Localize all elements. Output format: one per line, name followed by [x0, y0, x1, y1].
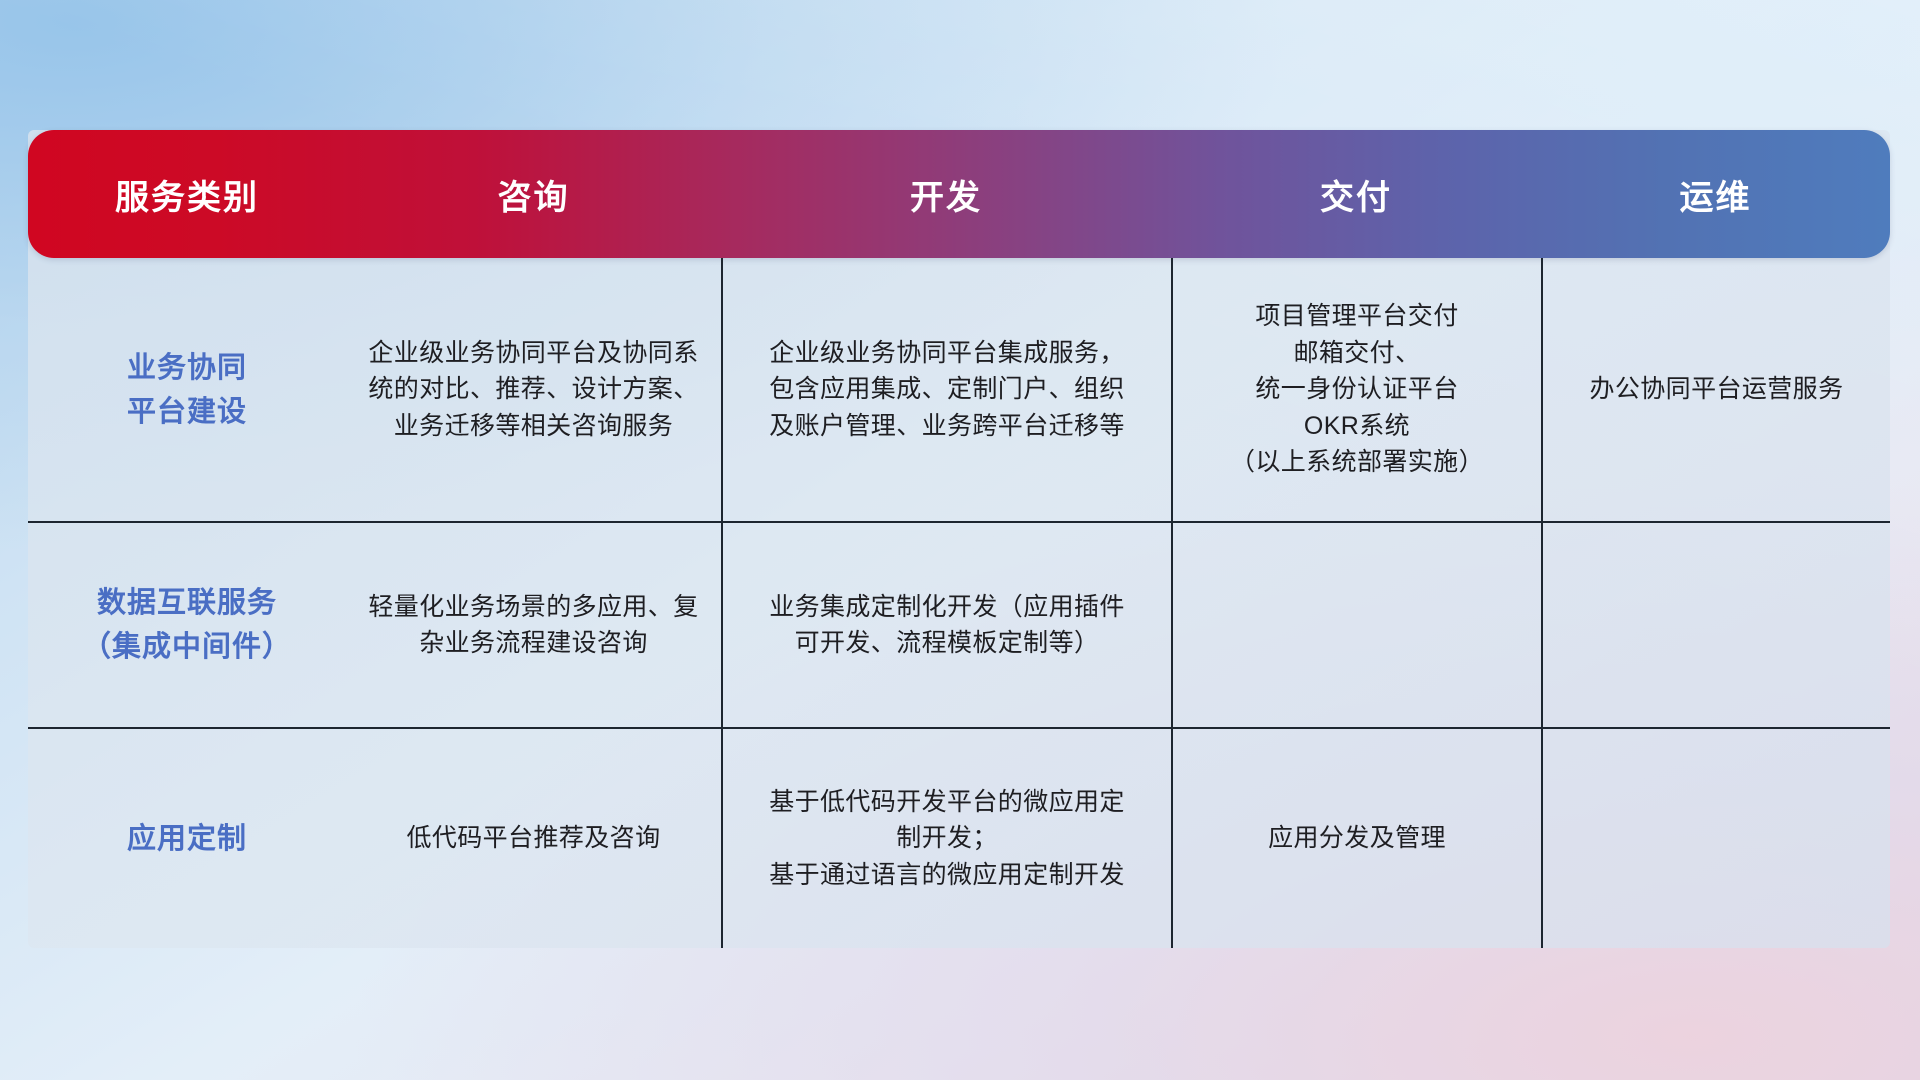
table-row: 数据互联服务（集成中间件） 轻量化业务场景的多应用、复杂业务流程建设咨询 业务集…	[28, 523, 1890, 729]
column-header-category: 服务类别	[28, 170, 346, 219]
column-header-operations: 运维	[1541, 170, 1890, 219]
cell-r1-operations: 办公协同平台运营服务	[1541, 258, 1890, 521]
cell-r2-operations	[1541, 523, 1890, 727]
cell-r2-development: 业务集成定制化开发（应用插件可开发、流程模板定制等）	[721, 523, 1171, 727]
table-body: 业务协同平台建设 企业级业务协同平台及协同系统的对比、推荐、设计方案、业务迁移等…	[28, 258, 1890, 948]
cell-r3-delivery: 应用分发及管理	[1171, 729, 1541, 948]
table-header-row: 服务类别 咨询 开发 交付 运维	[28, 130, 1890, 258]
table-row: 业务协同平台建设 企业级业务协同平台及协同系统的对比、推荐、设计方案、业务迁移等…	[28, 258, 1890, 523]
column-header-consulting: 咨询	[346, 170, 721, 219]
column-header-development: 开发	[721, 170, 1171, 219]
row-label-data-integration: 数据互联服务（集成中间件）	[28, 523, 346, 727]
row-label-business-collaboration: 业务协同平台建设	[28, 258, 346, 521]
cell-r3-consulting: 低代码平台推荐及咨询	[346, 729, 721, 948]
service-matrix-table: 服务类别 咨询 开发 交付 运维 业务协同平台建设 企业级业务协同平台及协同系统…	[28, 130, 1890, 948]
row-label-app-customization: 应用定制	[28, 729, 346, 948]
cell-r1-delivery: 项目管理平台交付邮箱交付、统一身份认证平台OKR系统（以上系统部署实施）	[1171, 258, 1541, 521]
cell-r3-development: 基于低代码开发平台的微应用定制开发；基于通过语言的微应用定制开发	[721, 729, 1171, 948]
cell-r3-operations	[1541, 729, 1890, 948]
column-header-delivery: 交付	[1171, 170, 1541, 219]
cell-r2-consulting: 轻量化业务场景的多应用、复杂业务流程建设咨询	[346, 523, 721, 727]
table-row: 应用定制 低代码平台推荐及咨询 基于低代码开发平台的微应用定制开发；基于通过语言…	[28, 729, 1890, 948]
cell-r2-delivery	[1171, 523, 1541, 727]
cell-r1-development: 企业级业务协同平台集成服务，包含应用集成、定制门户、组织及账户管理、业务跨平台迁…	[721, 258, 1171, 521]
cell-r1-consulting: 企业级业务协同平台及协同系统的对比、推荐、设计方案、业务迁移等相关咨询服务	[346, 258, 721, 521]
